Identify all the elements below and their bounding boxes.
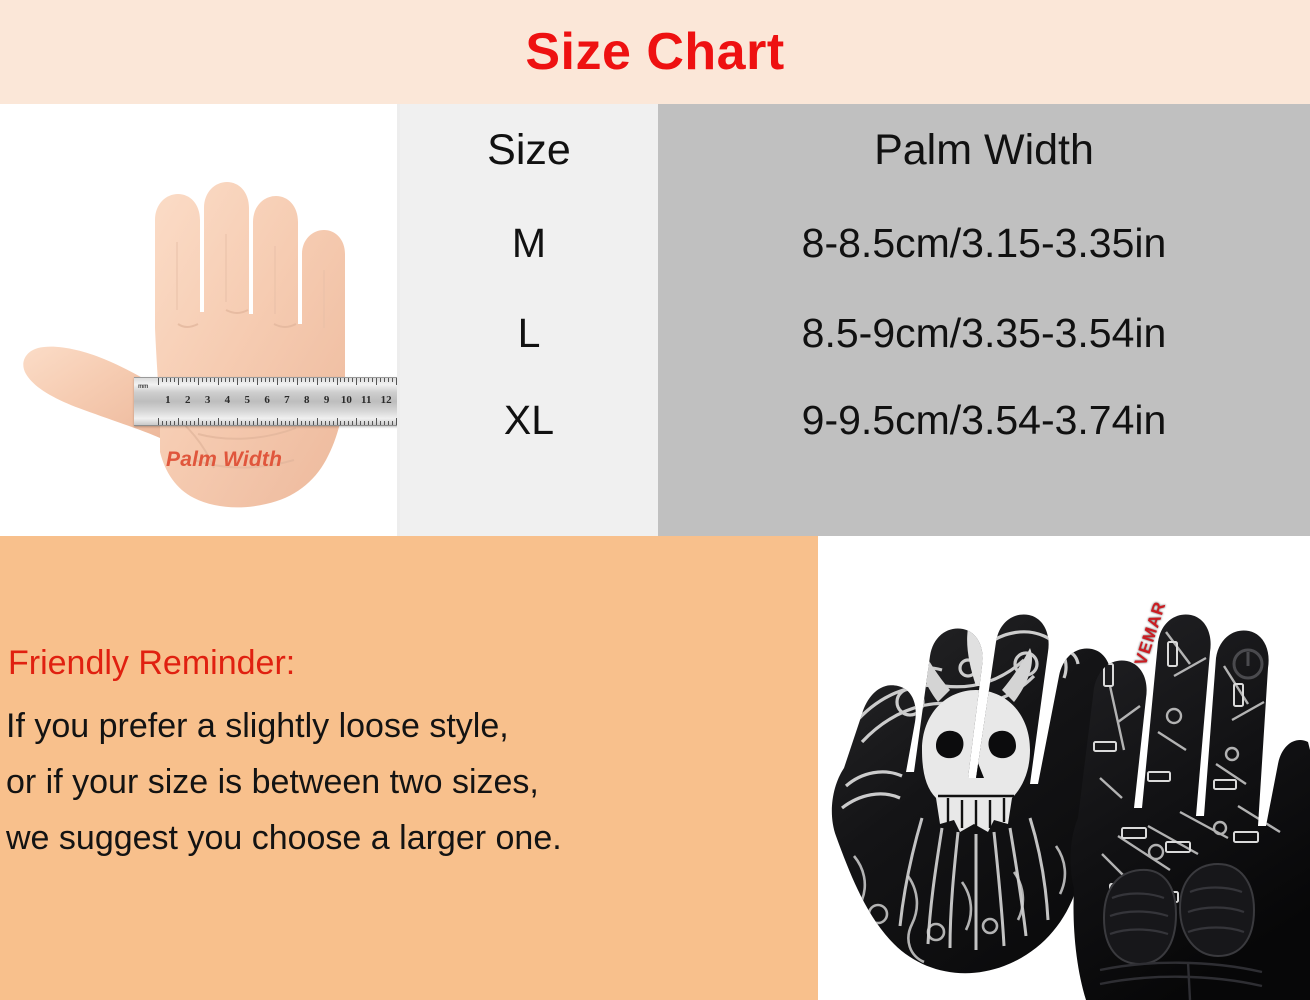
ruler-tick <box>198 378 199 385</box>
ruler-number: 8 <box>304 394 310 406</box>
ruler-tick <box>285 378 286 382</box>
ruler-tick <box>325 378 326 382</box>
ruler-tick <box>372 378 373 382</box>
ruler-tick <box>333 378 334 382</box>
ruler-tick <box>206 421 207 425</box>
ruler-tick <box>249 378 250 382</box>
ruler-tick <box>269 421 270 425</box>
ruler-tick <box>277 418 278 425</box>
ruler-tick <box>340 421 341 425</box>
ruler-tick <box>241 378 242 382</box>
ruler-tick <box>344 378 345 382</box>
ruler-tick <box>194 378 195 382</box>
ruler-tick <box>344 421 345 425</box>
ruler-tick <box>166 378 167 382</box>
ruler-graphic: mm 123456789101112 <box>134 377 400 426</box>
ruler-tick <box>261 421 262 425</box>
ruler-tick <box>229 421 230 425</box>
ruler-tick <box>186 421 187 425</box>
ruler-tick <box>237 378 238 385</box>
ruler-tick <box>329 421 330 425</box>
ruler-tick <box>221 421 222 425</box>
ruler-tick <box>313 378 314 382</box>
ruler-tick <box>297 378 298 385</box>
ruler-number: 12 <box>381 394 392 406</box>
ruler-tick <box>340 378 341 382</box>
ruler-tick <box>352 421 353 425</box>
ruler-tick <box>337 418 338 425</box>
ruler-tick <box>309 378 310 382</box>
ruler-tick <box>210 421 211 425</box>
ruler-tick <box>273 421 274 425</box>
ruler-tick <box>190 378 191 382</box>
ruler-tick <box>368 421 369 425</box>
ruler-tick <box>364 378 365 382</box>
ruler-tick <box>166 421 167 425</box>
ruler-tick <box>202 378 203 382</box>
ruler-tick <box>162 378 163 382</box>
ruler-tick <box>372 421 373 425</box>
ruler-tick <box>352 378 353 382</box>
ruler-tick <box>301 378 302 382</box>
ruler-tick <box>257 418 258 425</box>
ruler-tick <box>178 378 179 385</box>
table-row-size-xl: XL <box>400 376 658 464</box>
table-row-palm-xl: 9-9.5cm/3.54-3.74in <box>658 376 1310 464</box>
ruler-tick <box>301 421 302 425</box>
ruler-tick <box>198 418 199 425</box>
ruler-tick <box>218 418 219 425</box>
ruler-tick <box>190 421 191 425</box>
ruler-tick <box>210 378 211 382</box>
ruler-tick <box>305 421 306 425</box>
reminder-line: we suggest you choose a larger one. <box>6 810 796 866</box>
ruler-tick <box>206 378 207 382</box>
ruler-tick <box>237 418 238 425</box>
ruler-number: 11 <box>361 394 371 406</box>
ruler-number: 1 <box>165 394 171 406</box>
ruler-tick <box>360 378 361 382</box>
ruler-tick <box>305 378 306 382</box>
ruler-tick <box>348 378 349 382</box>
ruler-tick <box>313 421 314 425</box>
ruler-tick <box>380 421 381 425</box>
ruler-tick <box>253 421 254 425</box>
ruler-tick <box>162 421 163 425</box>
ruler-tick <box>325 421 326 425</box>
ruler-tick <box>233 378 234 382</box>
ruler-number: 2 <box>185 394 191 406</box>
reminder-line: If you prefer a slightly loose style, <box>6 698 796 754</box>
ruler-tick <box>269 378 270 382</box>
ruler-number: 7 <box>284 394 290 406</box>
header-band: Size Chart <box>0 0 1310 104</box>
ruler-tick <box>214 378 215 382</box>
ruler-tick <box>317 418 318 425</box>
product-photo-gloves <box>818 536 1310 1000</box>
ruler-number: 6 <box>264 394 270 406</box>
ruler-tick <box>174 378 175 382</box>
ruler-tick <box>392 378 393 382</box>
ruler-tick <box>356 378 357 385</box>
ruler-tick <box>281 421 282 425</box>
ruler-tick <box>348 421 349 425</box>
ruler-number: 10 <box>341 394 352 406</box>
ruler-tick <box>392 421 393 425</box>
ruler-tick <box>178 418 179 425</box>
ruler-tick <box>214 421 215 425</box>
ruler-tick <box>182 421 183 425</box>
ruler-tick <box>329 378 330 382</box>
ruler-tick <box>297 418 298 425</box>
page-title: Size Chart <box>0 22 1310 82</box>
ruler-tick <box>257 378 258 385</box>
ruler-tick <box>380 378 381 382</box>
reminder-title: Friendly Reminder: <box>8 643 295 683</box>
ruler-tick <box>384 378 385 382</box>
ruler-tick <box>384 421 385 425</box>
table-row-size-m: M <box>400 199 658 287</box>
ruler-tick <box>245 378 246 382</box>
ruler-tick <box>221 378 222 382</box>
ruler-number-strip: 123456789101112 <box>134 394 400 410</box>
table-row-palm-l: 8.5-9cm/3.35-3.54in <box>658 289 1310 377</box>
table-row-palm-m: 8-8.5cm/3.15-3.35in <box>658 199 1310 287</box>
ruler-tick <box>289 421 290 425</box>
ruler-tick <box>182 378 183 382</box>
ruler-tick <box>261 378 262 382</box>
ruler-tick <box>360 421 361 425</box>
ruler-number: 5 <box>245 394 251 406</box>
ruler-tick <box>158 378 159 385</box>
ruler-tick <box>293 421 294 425</box>
size-table: mm 123456789101112 Palm Width Size Palm … <box>0 104 1310 536</box>
ruler-tick <box>186 378 187 382</box>
ruler-tick <box>265 378 266 382</box>
ruler-tick <box>229 378 230 382</box>
ruler-tick <box>218 378 219 385</box>
palm-measurement-photo: mm 123456789101112 Palm Width <box>0 104 400 536</box>
hand-illustration <box>8 142 400 536</box>
ruler-tick <box>233 421 234 425</box>
ruler-tick <box>277 378 278 385</box>
ruler-unit-label: mm <box>138 384 148 390</box>
ruler-tick <box>265 421 266 425</box>
ruler-tick <box>321 378 322 382</box>
ruler-tick <box>249 421 250 425</box>
ruler-tick <box>253 378 254 382</box>
ruler-tick <box>364 421 365 425</box>
ruler-number: 9 <box>324 394 330 406</box>
ruler-tick <box>225 378 226 382</box>
column-header-size: Size <box>400 104 658 196</box>
ruler-tick <box>388 421 389 425</box>
table-row-size-l: L <box>400 289 658 377</box>
ruler-tick <box>170 421 171 425</box>
ruler-tick <box>337 378 338 385</box>
ruler-tick <box>376 378 377 385</box>
ruler-tick <box>174 421 175 425</box>
ruler-tick <box>225 421 226 425</box>
ruler-tick <box>241 421 242 425</box>
size-chart-page: Size Chart <box>0 0 1310 1000</box>
reminder-line: or if your size is between two sizes, <box>6 754 796 810</box>
ruler-tick <box>202 421 203 425</box>
ruler-tick <box>388 378 389 382</box>
ruler-tick <box>170 378 171 382</box>
ruler-tick <box>158 418 159 425</box>
ruler-tick <box>285 421 286 425</box>
ruler-tick <box>321 421 322 425</box>
ruler-tick <box>368 378 369 382</box>
ruler-tick <box>273 378 274 382</box>
ruler-tick <box>317 378 318 385</box>
reminder-body: If you prefer a slightly loose style, or… <box>6 698 796 866</box>
ruler-tick <box>245 421 246 425</box>
ruler-tick <box>333 421 334 425</box>
ruler-tick <box>309 421 310 425</box>
ruler-tick <box>281 378 282 382</box>
ruler-number: 4 <box>225 394 231 406</box>
palm-width-caption: Palm Width <box>166 448 282 472</box>
ruler-tick <box>376 418 377 425</box>
column-header-palm-width: Palm Width <box>658 104 1310 196</box>
ruler-number: 3 <box>205 394 211 406</box>
ruler-tick <box>289 378 290 382</box>
ruler-tick <box>356 418 357 425</box>
ruler-tick <box>293 378 294 382</box>
ruler-tick <box>194 421 195 425</box>
